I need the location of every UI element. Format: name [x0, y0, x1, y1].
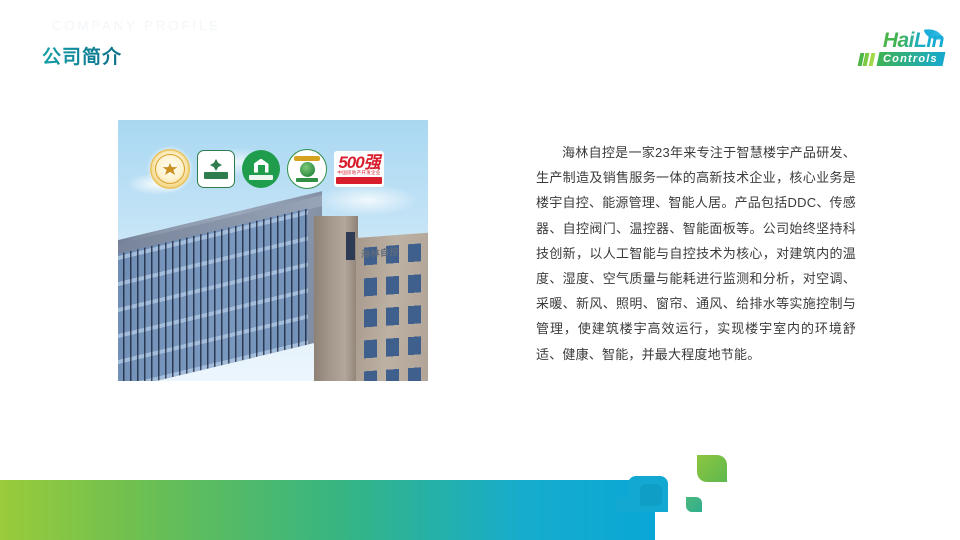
leaf-accent-small-icon: [686, 497, 702, 512]
building-sign-label: 海林自控: [361, 245, 399, 261]
badge-500-number: 500强: [338, 155, 379, 170]
footer-notch-shape: [640, 484, 662, 506]
footer-gradient-band: [0, 480, 655, 540]
bars-icon: [859, 53, 874, 66]
building-tower: [314, 216, 358, 387]
page-title: 公司简介: [42, 42, 122, 69]
certification-badges: 500强 中国房地产开发企业: [150, 148, 426, 190]
badge-500-subtext: 中国房地产开发企业: [337, 170, 380, 176]
white-square-badge: [197, 150, 235, 188]
leaf-accent-large-icon: [697, 455, 727, 482]
logo-subtext-badge: Controls: [877, 52, 946, 66]
logo-subtext-wrap: Controls: [859, 52, 944, 66]
eco-globe-badge: [287, 149, 327, 189]
photo-baseline: [118, 381, 428, 387]
title-watermark: COMPANY PROFILE: [52, 18, 221, 33]
company-photo: 500强 中国房地产开发企业 海林自控: [118, 120, 428, 387]
slide-root: COMPANY PROFILE 公司简介 HaiLin Controls: [0, 0, 960, 540]
logo-subtext-label: Controls: [883, 53, 938, 65]
company-description: 海林自控是一家23年来专注于智慧楼宇产品研发、生产制造及销售服务一体的高新技术企…: [536, 140, 856, 367]
red-500-badge: 500强 中国房地产开发企业: [334, 151, 384, 187]
brand-logo: HaiLin Controls: [828, 30, 948, 70]
logo-wordmark: HaiLin: [883, 30, 944, 52]
gold-medal-badge: [150, 149, 190, 189]
green-house-badge: [242, 150, 280, 188]
